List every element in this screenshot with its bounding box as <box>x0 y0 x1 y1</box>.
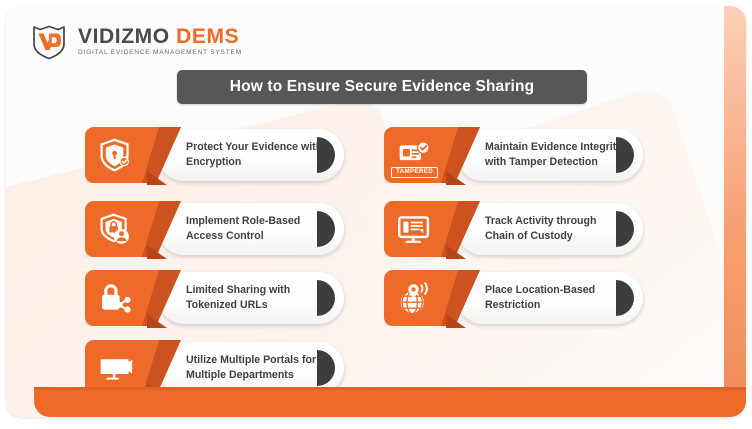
list-item-label: Limited Sharing with Tokenized URLs <box>186 283 326 313</box>
benefit-card-grid: Protect Your Evidence with Encryption <box>6 6 746 417</box>
shield-lock-user-icon <box>97 211 134 248</box>
list-item-label: Protect Your Evidence with Encryption <box>186 140 326 170</box>
list-item[interactable]: Implement Role-Based Access Control <box>85 201 344 257</box>
list-item-label: Implement Role-Based Access Control <box>186 214 326 244</box>
bottom-bar-shade <box>34 387 746 390</box>
list-item[interactable]: Protect Your Evidence with Encryption <box>85 127 344 183</box>
globe-location-pin-signal-icon <box>396 280 433 317</box>
status-badge: TAMPERED <box>391 167 438 178</box>
list-item[interactable]: TAMPERED Maintain Evidence Integrity wit… <box>384 127 643 183</box>
infographic-canvas: VIDIZMO DEMS DIGITAL EVIDENCE MANAGEMENT… <box>6 6 746 417</box>
monitor-document-list-icon <box>396 211 433 248</box>
list-item[interactable]: Track Activity through Chain of Custody <box>384 201 643 257</box>
list-item[interactable]: Place Location-Based Restriction <box>384 270 643 326</box>
list-item[interactable]: Limited Sharing with Tokenized URLs <box>85 270 344 326</box>
bottom-accent-bar <box>34 387 746 417</box>
desktop-monitor-icon <box>97 350 134 387</box>
list-item-label: Track Activity through Chain of Custody <box>485 214 625 244</box>
list-item-label: Utilize Multiple Portals for Multiple De… <box>186 353 326 383</box>
list-item-label: Maintain Evidence Integrity with Tamper … <box>485 140 625 170</box>
list-item-label: Place Location-Based Restriction <box>485 283 625 313</box>
shield-lock-gear-check-icon <box>97 137 134 174</box>
infographic-screen: VIDIZMO DEMS DIGITAL EVIDENCE MANAGEMENT… <box>0 0 752 429</box>
padlock-share-nodes-icon <box>97 280 134 317</box>
